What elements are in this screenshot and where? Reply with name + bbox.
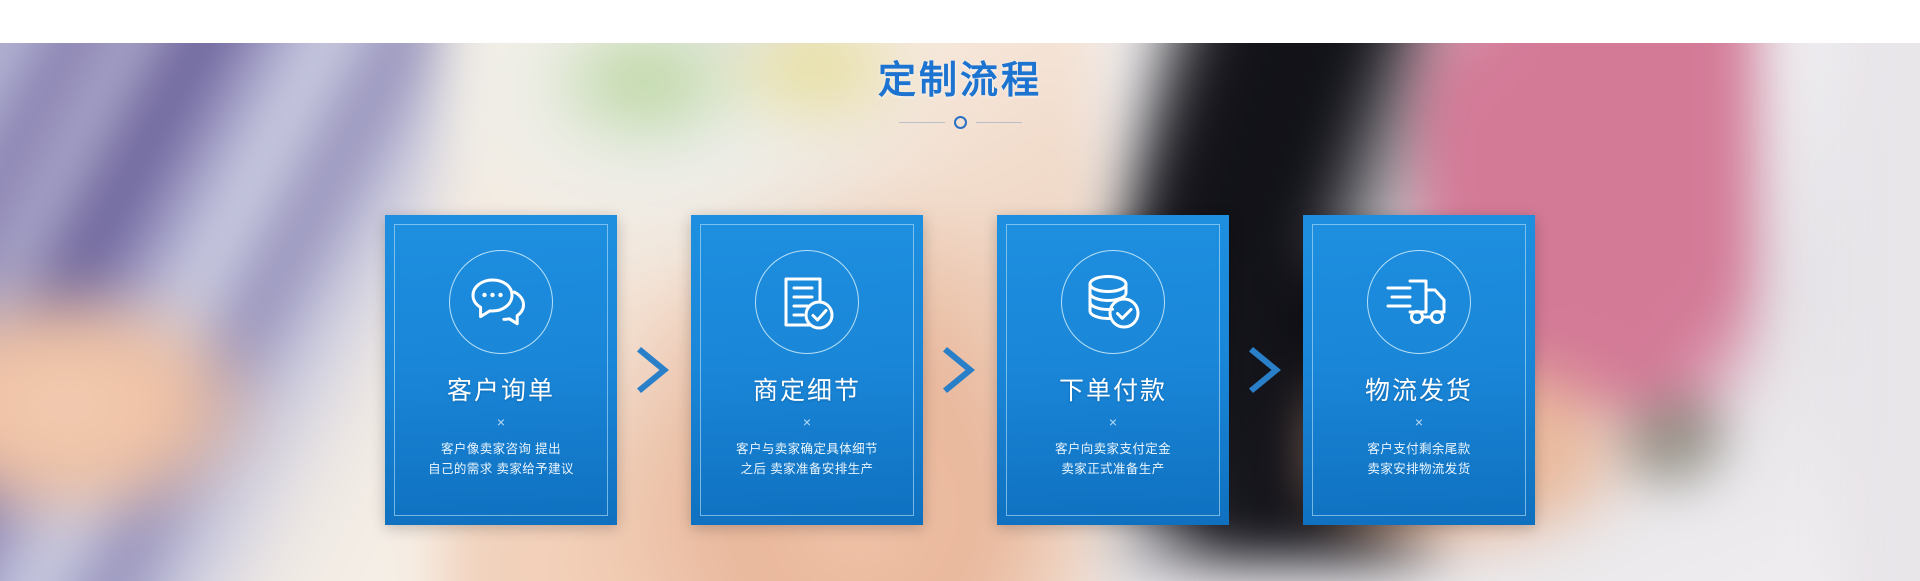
step-description-line: 客户与卖家确定具体细节 xyxy=(736,439,878,459)
step-description-line: 客户支付剩余尾款 xyxy=(1367,439,1470,459)
customization-process-banner: 定制流程 客户询单 × xyxy=(0,0,1920,581)
divider-line-left xyxy=(899,122,945,123)
step-separator: × xyxy=(497,415,505,429)
step-description: 客户支付剩余尾款 卖家安排物流发货 xyxy=(1367,439,1470,480)
step-title: 商定细节 xyxy=(753,378,861,406)
coins-check-icon xyxy=(1061,250,1165,354)
step-description-line: 客户像卖家咨询 提出 xyxy=(428,439,574,459)
header: 定制流程 xyxy=(0,58,1920,129)
step-title: 下单付款 xyxy=(1059,378,1167,406)
process-step-card[interactable]: 客户询单 × 客户像卖家咨询 提出 自己的需求 卖家给予建议 xyxy=(385,215,617,525)
chat-bubbles-icon xyxy=(449,250,553,354)
step-description-line: 卖家正式准备生产 xyxy=(1055,459,1171,479)
chevron-right-icon xyxy=(1229,215,1303,525)
step-description: 客户与卖家确定具体细节 之后 卖家准备安排生产 xyxy=(736,439,878,480)
document-check-icon xyxy=(755,250,859,354)
chevron-right-icon xyxy=(617,215,691,525)
step-separator: × xyxy=(1109,415,1117,429)
step-description-line: 客户向卖家支付定金 xyxy=(1055,439,1171,459)
step-description: 客户像卖家咨询 提出 自己的需求 卖家给予建议 xyxy=(428,439,574,480)
step-description: 客户向卖家支付定金 卖家正式准备生产 xyxy=(1055,439,1171,480)
step-description-line: 卖家安排物流发货 xyxy=(1367,459,1470,479)
page-title: 定制流程 xyxy=(0,58,1920,106)
step-title: 客户询单 xyxy=(447,378,555,406)
step-description-line: 之后 卖家准备安排生产 xyxy=(736,459,878,479)
title-divider xyxy=(0,116,1920,129)
process-steps-row: 客户询单 × 客户像卖家咨询 提出 自己的需求 卖家给予建议 xyxy=(0,215,1920,535)
delivery-truck-icon xyxy=(1367,250,1471,354)
step-title: 物流发货 xyxy=(1365,378,1473,406)
step-separator: × xyxy=(1415,415,1423,429)
top-white-band xyxy=(0,0,1920,43)
process-step-card[interactable]: 下单付款 × 客户向卖家支付定金 卖家正式准备生产 xyxy=(997,215,1229,525)
step-description-line: 自己的需求 卖家给予建议 xyxy=(428,459,574,479)
divider-line-right xyxy=(976,122,1022,123)
circle-ring-divider-icon xyxy=(954,116,967,129)
chevron-right-icon xyxy=(923,215,997,525)
step-separator: × xyxy=(803,415,811,429)
process-step-card[interactable]: 物流发货 × 客户支付剩余尾款 卖家安排物流发货 xyxy=(1303,215,1535,525)
process-step-card[interactable]: 商定细节 × 客户与卖家确定具体细节 之后 卖家准备安排生产 xyxy=(691,215,923,525)
